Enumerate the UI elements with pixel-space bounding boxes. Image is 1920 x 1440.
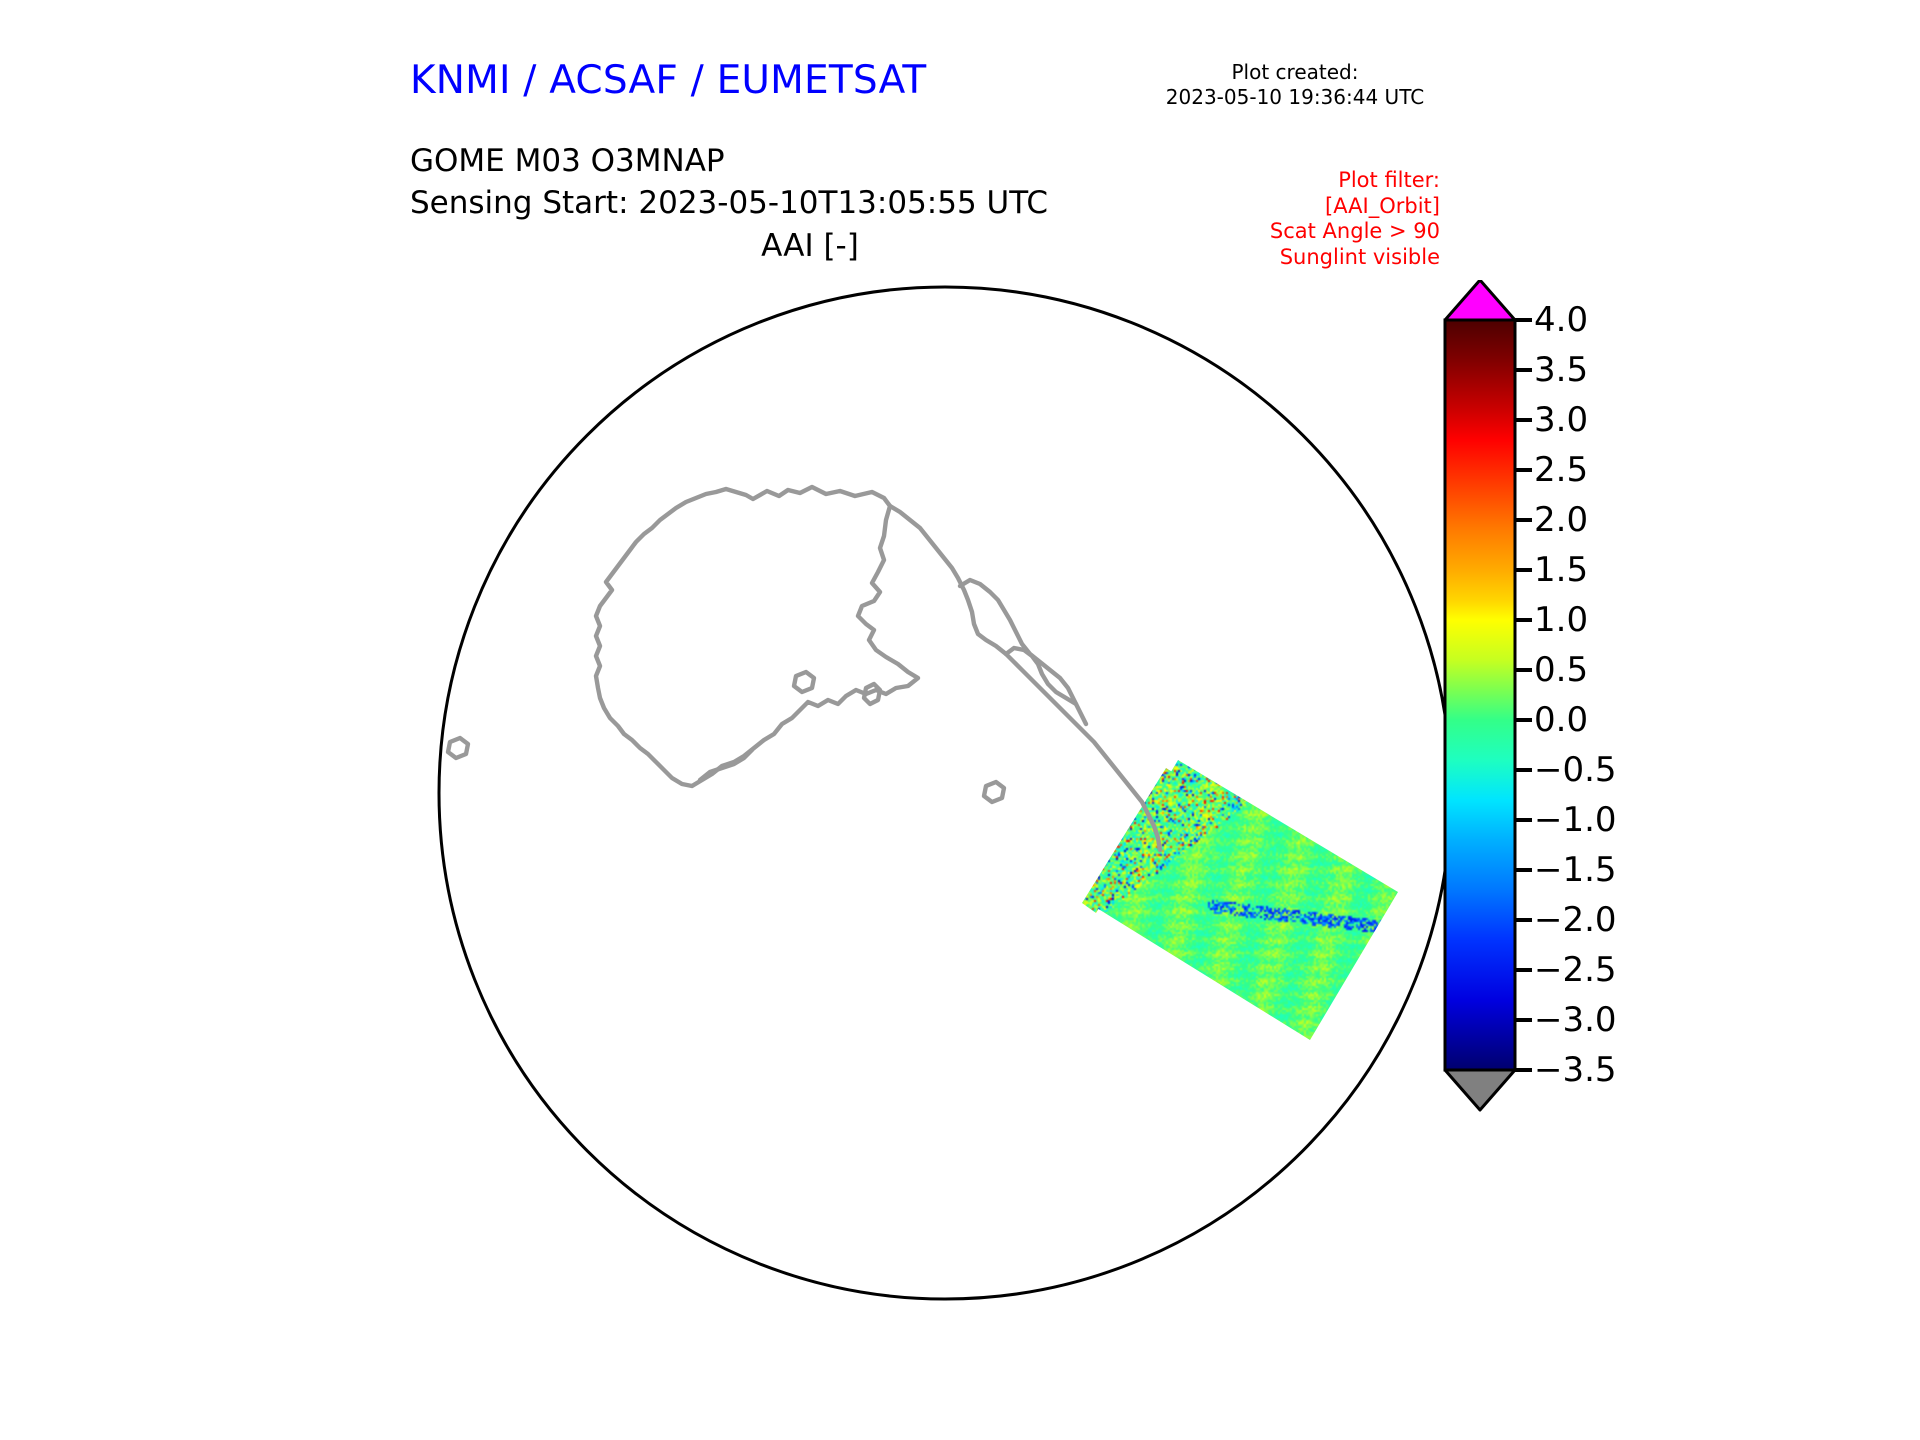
- colorbar-tick-label: −1.5: [1534, 850, 1617, 890]
- island-near-peninsula: [794, 672, 814, 692]
- antarctic-peninsula-coastline: [890, 506, 1160, 850]
- polar-map: [0, 0, 1450, 1440]
- swath-raster: [1060, 740, 1410, 1060]
- colorbar-tick-label: −1.0: [1534, 800, 1617, 840]
- colorbar-panel[interactable]: 4.03.53.02.52.01.51.00.50.0−0.5−1.0−1.5−…: [1428, 280, 1768, 1350]
- colorbar-over-range-arrow: [1445, 280, 1515, 320]
- colorbar-tick-label: 1.5: [1534, 550, 1588, 590]
- colorbar-tick-label: −0.5: [1534, 750, 1617, 790]
- colorbar-tick-label: 2.5: [1534, 450, 1588, 490]
- colorbar-ticks: [1515, 320, 1532, 1070]
- island-south-georgia: [674, 248, 712, 326]
- map-boundary-circle: [439, 287, 1450, 1299]
- data-swath-layer: [1060, 740, 1410, 1060]
- island-south-sandwich: [864, 684, 880, 704]
- colorbar-tick-label: 1.0: [1534, 600, 1588, 640]
- colorbar-tick-label: −2.0: [1534, 900, 1617, 940]
- antarctica-coastline: [596, 487, 918, 786]
- colorbar-tick-label: 4.0: [1534, 300, 1588, 340]
- colorbar-tick-label: 0.0: [1534, 700, 1588, 740]
- colorbar-under-range-arrow: [1445, 1070, 1515, 1110]
- island-small-mid-left: [448, 738, 468, 758]
- coastlines-group: [448, 248, 1160, 850]
- colorbar-tick-label: 3.0: [1534, 400, 1588, 440]
- colorbar-tick-label: 3.5: [1534, 350, 1588, 390]
- island-tip-left: [506, 302, 522, 322]
- peninsula-bay-detail: [1006, 648, 1076, 704]
- colorbar-gradient-bar: [1445, 320, 1515, 1070]
- colorbar-tick-label: −2.5: [1534, 950, 1617, 990]
- colorbar-tick-label: 0.5: [1534, 650, 1588, 690]
- colorbar-tick-label: 2.0: [1534, 500, 1588, 540]
- island-south-orkney: [984, 782, 1004, 802]
- colorbar-tick-label: −3.0: [1534, 1000, 1617, 1040]
- colorbar-tick-label: −3.5: [1534, 1050, 1617, 1090]
- island-small-upper-left: [524, 318, 552, 346]
- map-panel: [0, 0, 1450, 1440]
